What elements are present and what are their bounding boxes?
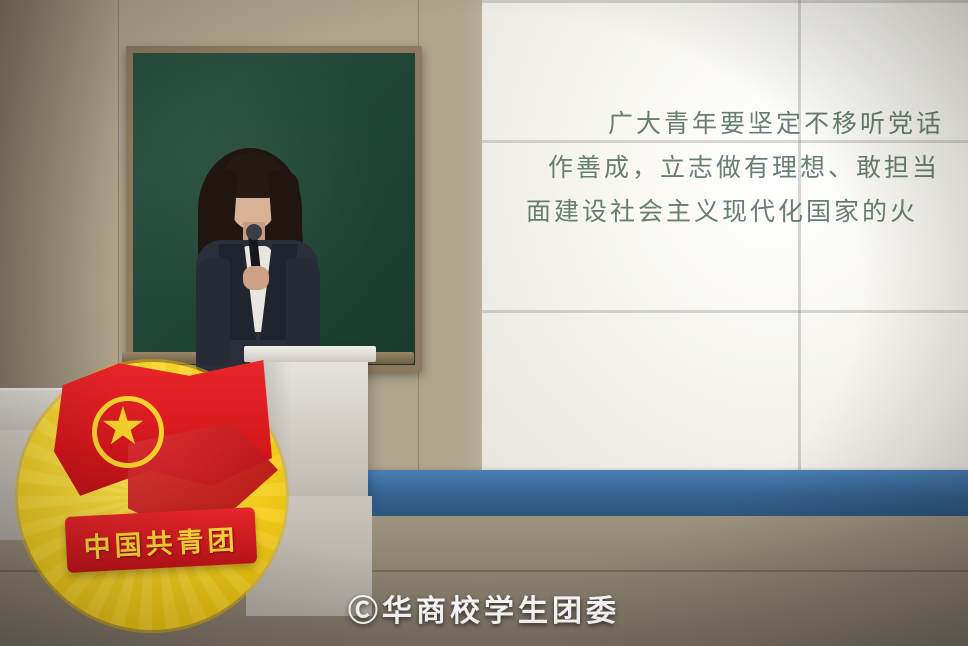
projection-screen: 广大青年要坚定不移听党话 作善成，立志做有理想、敢担当 面建设社会主义现代化国家… — [482, 0, 968, 494]
screen-surface — [482, 0, 968, 494]
watermark-text: Ⓒ华商校学生团委 — [0, 586, 968, 630]
speaker-hand — [243, 266, 269, 290]
speaker-arm-left — [196, 258, 230, 366]
screen-seam-horizontal-1 — [482, 140, 968, 143]
screen-seam-horizontal-2 — [482, 310, 968, 313]
screen-seam-vertical — [798, 0, 801, 494]
screen-text-line-3: 面建设社会主义现代化国家的火 — [526, 192, 968, 228]
screen-text-line-2: 作善成，立志做有理想、敢担当 — [548, 148, 968, 184]
screen-seam-top — [482, 0, 968, 3]
microphone-head — [246, 224, 262, 240]
screen-text-line-1: 广大青年要坚定不移听党话 — [608, 104, 968, 140]
photo-scene: 广大青年要坚定不移听党话 作善成，立志做有理想、敢担当 面建设社会主义现代化国家… — [0, 0, 968, 646]
